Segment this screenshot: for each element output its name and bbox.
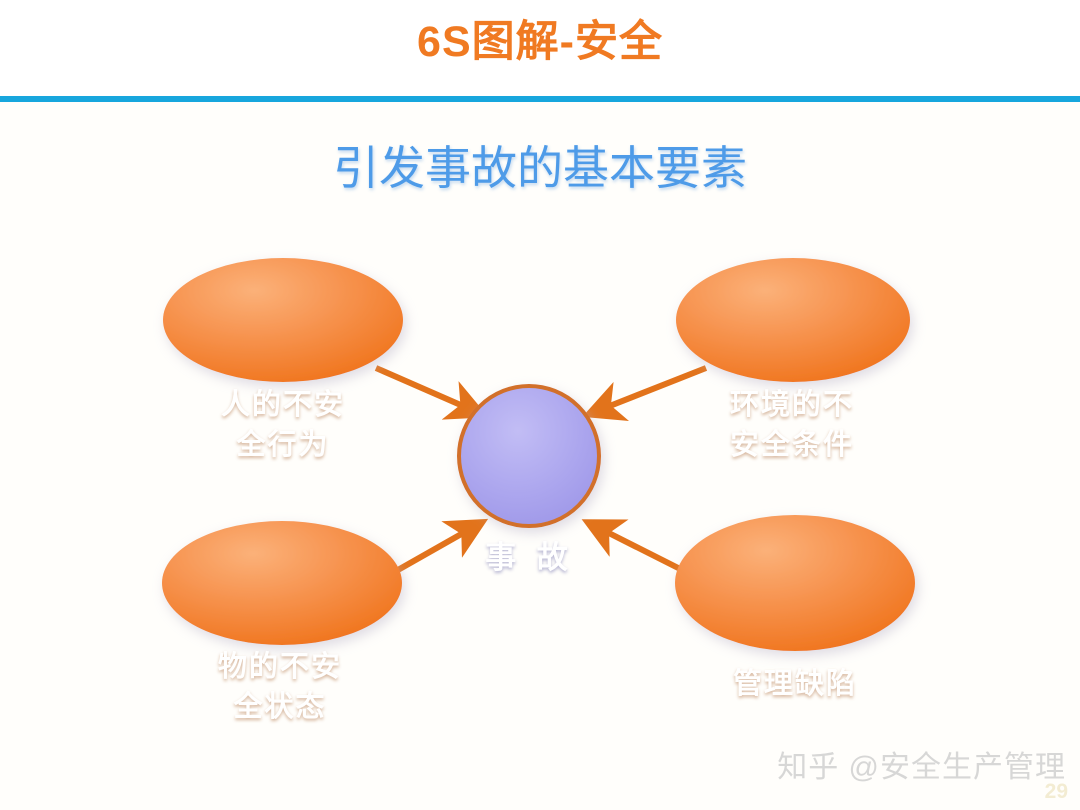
page-title: 6S图解-安全 bbox=[0, 14, 1080, 70]
arrow-from-environment-unsafe-condition bbox=[592, 368, 706, 413]
accident-factors-diagram: 人的不安 全行为 环境的不 安全条件 物的不安 全状态 管理缺陷 事 故 bbox=[0, 102, 1080, 810]
node-shape-environment-unsafe-condition[interactable] bbox=[676, 258, 910, 382]
node-shape-human-unsafe-behavior[interactable] bbox=[163, 258, 403, 382]
slide-header: 6S图解-安全 bbox=[0, 0, 1080, 99]
page-number: 29 bbox=[1045, 780, 1068, 804]
arrow-from-human-unsafe-behavior bbox=[376, 368, 479, 413]
diagram-vector-layer bbox=[0, 102, 1080, 810]
zhihu-watermark: 知乎 @安全生产管理 bbox=[777, 742, 1066, 786]
node-shape-object-unsafe-state[interactable] bbox=[162, 521, 402, 645]
node-shape-accident-center[interactable] bbox=[459, 386, 599, 526]
slide-canvas: 6S图解-安全 引发事故的基本要素 bbox=[0, 0, 1080, 810]
node-shape-management-defect[interactable] bbox=[675, 515, 915, 651]
